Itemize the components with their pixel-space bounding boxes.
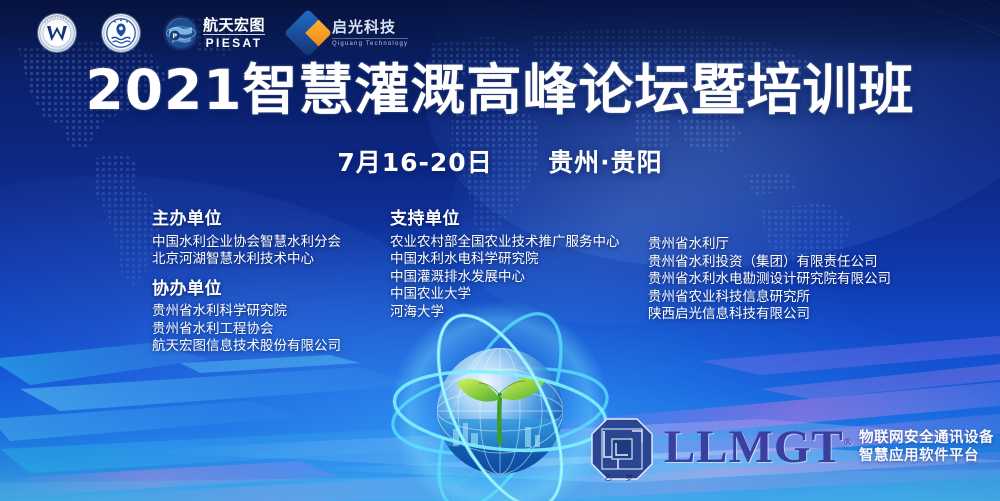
organizations-column-1: 主办单位 中国水利企业协会智慧水利分会 北京河湖智慧水利技术中心 协办单位 贵州… bbox=[152, 210, 390, 356]
qiguang-label-cn: 启光科技 bbox=[332, 20, 408, 35]
org-item: 贵州省水利投资（集团）有限责任公司 bbox=[648, 254, 891, 272]
qiguang-diamond-icon bbox=[284, 9, 332, 57]
org-item: 农业农村部全国农业技术推广服务中心 bbox=[390, 234, 648, 252]
llmgt-wordmark-text: LLMGT bbox=[664, 421, 844, 473]
logo-qiguang: 启光科技 Qiguang Technology bbox=[291, 16, 408, 50]
llmgt-tagline-line2: 智慧应用软件平台 bbox=[859, 447, 994, 465]
piesat-label-cn: 航天宏图 bbox=[203, 18, 265, 35]
org-item: 贵州省水利厅 bbox=[648, 236, 891, 254]
org-item: 中国农业大学 bbox=[390, 286, 648, 304]
llmgt-tagline: 物联网安全通讯设备 智慧应用软件平台 bbox=[859, 429, 994, 465]
sponsor-logo-bar: P 航天宏图 PIESAT 启光科技 Qiguang Technology bbox=[0, 0, 1000, 66]
llmgt-logo-icon: 乙 梦 bbox=[586, 413, 658, 485]
conference-poster: P 航天宏图 PIESAT 启光科技 Qiguang Technology 20… bbox=[0, 0, 1000, 501]
logo-water-association bbox=[38, 14, 76, 52]
llmgt-wordmark: LLMGT® bbox=[664, 424, 853, 471]
org-item: 中国灌溉排水发展中心 bbox=[390, 269, 648, 287]
logo-water-resources bbox=[102, 14, 140, 52]
poster-title-text: 2021智慧灌溉高峰论坛暨培训班 bbox=[0, 62, 1000, 120]
heading-support-units: 支持单位 bbox=[390, 210, 648, 229]
org-item: 贵州省水利工程协会 bbox=[152, 321, 390, 339]
org-item: 贵州省水利水电勘测设计研究院有限公司 bbox=[648, 271, 891, 289]
registered-mark: ® bbox=[844, 436, 853, 448]
org-item: 河海大学 bbox=[390, 304, 648, 322]
org-item: 北京河湖智慧水利技术中心 bbox=[152, 251, 390, 269]
organizations-column-3: 贵州省水利厅 贵州省水利投资（集团）有限责任公司 贵州省水利水电勘测设计研究院有… bbox=[648, 210, 891, 356]
org-item: 陕西启光信息科技有限公司 bbox=[648, 306, 891, 324]
organizations-column-2: 支持单位 农业农村部全国农业技术推广服务中心 中国水利水电科学研究院 中国灌溉排… bbox=[390, 210, 648, 356]
org-item: 贵州省农业科技信息研究所 bbox=[648, 289, 891, 307]
org-item: 中国水利企业协会智慧水利分会 bbox=[152, 234, 390, 252]
poster-subtitle: 7月16-20日 贵州·贵阳 bbox=[0, 143, 1000, 179]
organizations-section: 主办单位 中国水利企业协会智慧水利分会 北京河湖智慧水利技术中心 协办单位 贵州… bbox=[0, 210, 1000, 356]
poster-location: 贵州·贵阳 bbox=[548, 148, 663, 177]
logo-piesat: P 航天宏图 PIESAT bbox=[166, 18, 265, 49]
water-resources-seal-icon bbox=[102, 14, 140, 52]
poster-title: 2021智慧灌溉高峰论坛暨培训班 bbox=[0, 62, 1000, 120]
llmgt-tagline-line1: 物联网安全通讯设备 bbox=[859, 429, 994, 447]
piesat-label-en: PIESAT bbox=[206, 35, 263, 49]
org-item: 航天宏图信息技术股份有限公司 bbox=[152, 338, 390, 356]
org-item: 中国水利水电科学研究院 bbox=[390, 251, 648, 269]
llmgt-brand: 乙 梦 LLMGT® 物联网安全通讯设备 智慧应用软件平台 bbox=[586, 413, 994, 485]
poster-date: 7月16-20日 bbox=[337, 148, 492, 177]
piesat-globe-icon: P bbox=[166, 18, 196, 48]
org-item: 贵州省水利科学研究院 bbox=[152, 303, 390, 321]
water-association-seal-icon bbox=[38, 14, 76, 52]
heading-coorganizer-units: 协办单位 bbox=[152, 280, 390, 299]
heading-host-units: 主办单位 bbox=[152, 210, 390, 229]
qiguang-label-en: Qiguang Technology bbox=[332, 38, 408, 47]
llmgt-mark-caption: 乙 梦 bbox=[605, 473, 639, 483]
svg-text:P: P bbox=[172, 32, 177, 40]
